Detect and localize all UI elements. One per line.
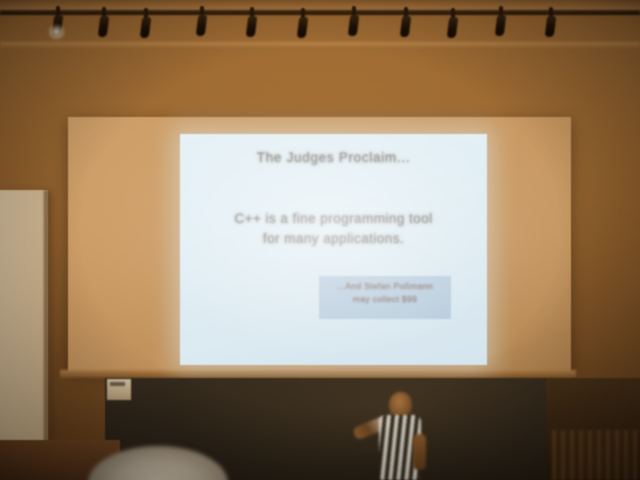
- track-light-head: [447, 17, 459, 38]
- track-light-glow: [48, 24, 65, 40]
- slide-title: The Judges Proclaim...: [180, 150, 487, 165]
- speaker-right-arm: [413, 434, 426, 470]
- track-light-head: [98, 16, 110, 37]
- side-whiteboard-panel-edge: [44, 190, 51, 448]
- track-light-head: [495, 15, 507, 36]
- track-light-head: [545, 16, 557, 37]
- projection-screen-bottom-bar: [60, 370, 576, 378]
- track-light: [196, 6, 207, 36]
- track-light: [495, 6, 506, 36]
- slide-callout-line: ...And Stefan Poßmann: [319, 280, 451, 293]
- track-light: [447, 8, 458, 38]
- slide-callout-text: ...And Stefan Poßmann may collect $99: [319, 280, 451, 307]
- track-light-head: [196, 15, 208, 36]
- slide-body: C++ is a fine programming tool for many …: [188, 209, 479, 250]
- track-light: [140, 8, 151, 38]
- speaker-figure: [355, 392, 451, 480]
- side-whiteboard-panel: [0, 190, 48, 448]
- track-light: [52, 6, 63, 36]
- photo-scene: The Judges Proclaim... C++ is a fine pro…: [0, 0, 640, 480]
- lighting-track-rail: [0, 10, 640, 15]
- track-light-head: [348, 15, 360, 36]
- track-light: [98, 7, 109, 37]
- track-light-head: [140, 17, 152, 38]
- track-light-head: [297, 17, 309, 38]
- track-light: [545, 7, 556, 37]
- slide-body-line: C++ is a fine programming tool: [188, 209, 479, 229]
- blackboard-placard-mark: [110, 382, 125, 386]
- track-light-head: [246, 16, 258, 37]
- track-light: [246, 7, 257, 37]
- projected-slide: The Judges Proclaim... C++ is a fine pro…: [180, 134, 487, 365]
- right-curtain: [552, 430, 640, 480]
- track-light-head: [400, 16, 412, 37]
- wall-molding: [0, 42, 640, 49]
- track-light: [348, 6, 359, 36]
- track-light: [400, 7, 411, 37]
- slide-body-line: for many applications.: [188, 229, 479, 249]
- slide-callout-line: may collect $99: [319, 293, 451, 306]
- track-light: [297, 8, 308, 38]
